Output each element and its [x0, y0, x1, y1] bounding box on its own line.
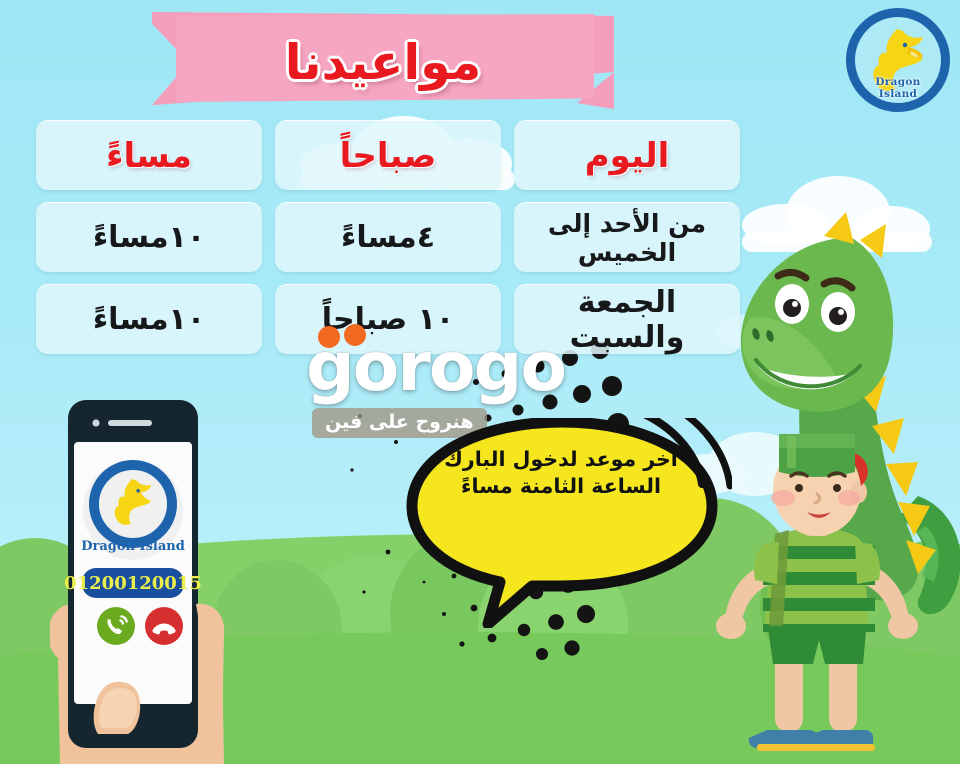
row-0-day: من الأحد إلى الخميس — [514, 202, 740, 272]
watermark-dot-icon — [318, 326, 340, 348]
watermark-dot-icon — [344, 324, 366, 346]
phone-in-hand: Dragon Island — [50, 398, 235, 764]
table-header-row: اليوم صباحاً مساءً — [36, 120, 740, 190]
header-cell-day: اليوم — [514, 120, 740, 190]
table-row: من الأحد إلى الخميس ٤مساءً ١٠مساءً — [36, 202, 740, 272]
row-1-evening: ١٠مساءً — [36, 284, 262, 354]
row-0-evening: ١٠مساءً — [36, 202, 262, 272]
notice-line-2: الساعة الثامنة مساءً — [436, 473, 686, 500]
header-cell-evening: مساءً — [36, 120, 262, 190]
brand-logo-label: Dragon Island — [855, 76, 941, 100]
notice-text: أخر موعد لدخول البارك الساعة الثامنة مسا… — [436, 446, 686, 500]
boy-character-icon — [709, 434, 924, 764]
watermark: gorogo هنروح على فين — [306, 336, 646, 401]
row-0-morning: ٤مساءً — [275, 202, 501, 272]
page-title: مواعيدنا — [152, 16, 614, 108]
notice-line-1: أخر موعد لدخول البارك — [436, 446, 686, 473]
brand-logo-badge: Dragon Island — [846, 8, 950, 112]
notice-speech-bubble: أخر موعد لدخول البارك الساعة الثامنة مسا… — [392, 418, 732, 628]
phone-logo-label: Dragon Island — [81, 539, 185, 554]
header-cell-morning: صباحاً — [275, 120, 501, 190]
poster-canvas: اليوم صباحاً مساءً من الأحد إلى الخميس ٤… — [0, 0, 960, 764]
